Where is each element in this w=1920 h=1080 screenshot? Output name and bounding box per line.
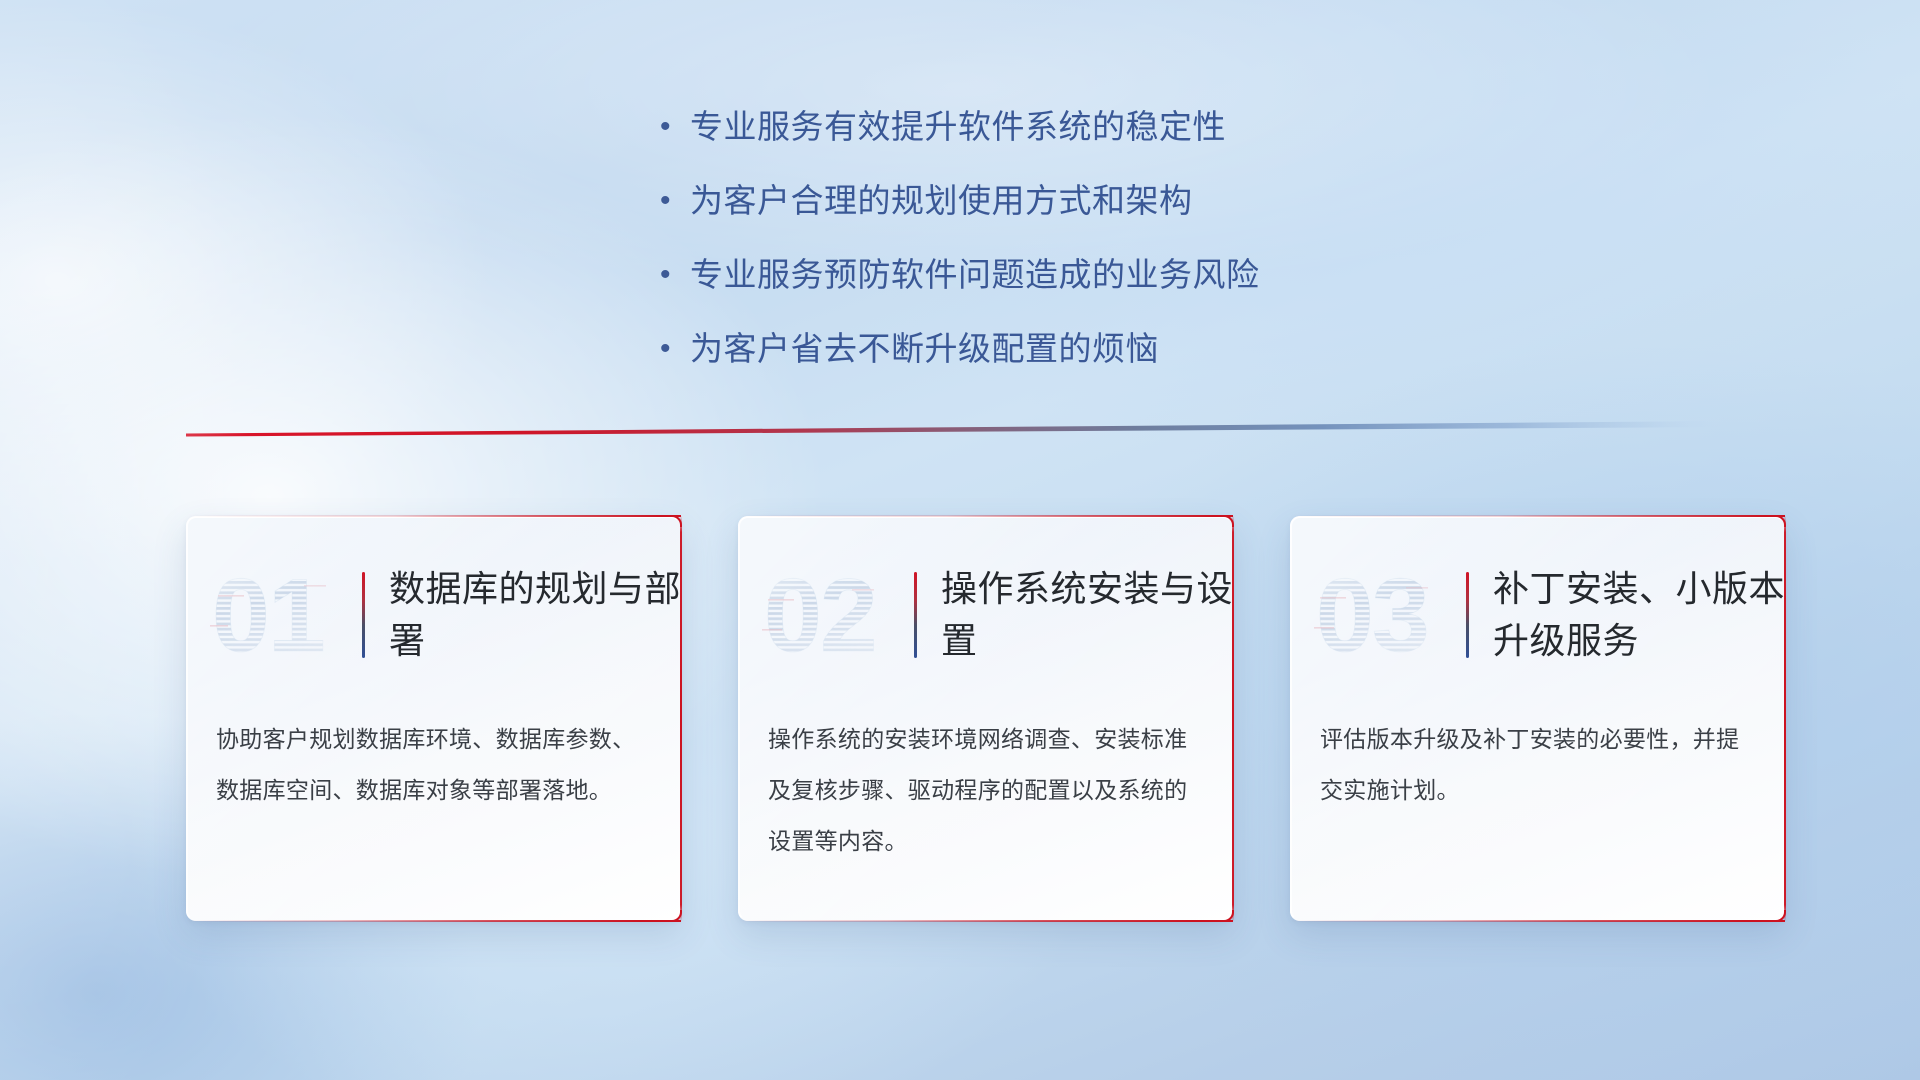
service-card[interactable]: 02 02 操作系统安装与设置 操作系统的安装环境网络调查、安装标准及复核步骤、… — [738, 516, 1233, 921]
bullet-text: 专业服务预防软件问题造成的业务风险 — [690, 253, 1260, 297]
benefits-bullet-list: • 专业服务有效提升软件系统的稳定性 • 为客户合理的规划使用方式和架构 • 专… — [660, 105, 1260, 401]
card-title: 补丁安装、小版本升级服务 — [1493, 563, 1785, 667]
tapered-line-icon — [186, 421, 1723, 439]
striped-number-icon: 03 03 — [1312, 555, 1462, 675]
card-title: 数据库的规划与部署 — [389, 563, 681, 667]
bullet-marker-icon: • — [660, 179, 690, 223]
card-header: 03 03 补丁安装、小版本升级服务 — [1290, 516, 1785, 714]
card-title: 操作系统安装与设置 — [941, 563, 1233, 667]
list-item: • 专业服务预防软件问题造成的业务风险 — [660, 253, 1260, 297]
svg-text:03: 03 — [1316, 558, 1428, 674]
bullet-text: 专业服务有效提升软件系统的稳定性 — [690, 105, 1226, 149]
list-item: • 为客户省去不断升级配置的烦恼 — [660, 327, 1260, 371]
card-header: 01 01 数据库的规划与部署 — [186, 516, 681, 714]
slide-canvas: • 专业服务有效提升软件系统的稳定性 • 为客户合理的规划使用方式和架构 • 专… — [0, 0, 1920, 1080]
card-number-watermark: 01 01 — [208, 555, 358, 675]
card-number-watermark: 02 02 — [760, 555, 910, 675]
bullet-marker-icon: • — [660, 327, 690, 371]
section-divider — [186, 421, 1723, 439]
list-item: • 为客户合理的规划使用方式和架构 — [660, 179, 1260, 223]
service-card[interactable]: 01 01 数据库的规划与部署 协助客户规划数据库环境、数据库参数、数据库空间、… — [186, 516, 681, 921]
svg-text:02: 02 — [764, 558, 876, 674]
card-title-rule — [914, 572, 917, 658]
list-item: • 专业服务有效提升软件系统的稳定性 — [660, 105, 1260, 149]
card-title-rule — [1466, 572, 1469, 658]
card-body-text: 操作系统的安装环境网络调查、安装标准及复核步骤、驱动程序的配置以及系统的设置等内… — [738, 714, 1233, 867]
bullet-marker-icon: • — [660, 253, 690, 297]
striped-number-icon: 02 02 — [760, 555, 910, 675]
svg-text:01: 01 — [212, 558, 324, 674]
bullet-text: 为客户合理的规划使用方式和架构 — [690, 179, 1193, 223]
striped-number-icon: 01 01 — [208, 555, 358, 675]
service-card-list: 01 01 数据库的规划与部署 协助客户规划数据库环境、数据库参数、数据库空间、… — [186, 516, 1786, 921]
service-card[interactable]: 03 03 补丁安装、小版本升级服务 评估版本升级及补丁安装的必要性，并提交实施… — [1290, 516, 1785, 921]
bullet-text: 为客户省去不断升级配置的烦恼 — [690, 327, 1159, 371]
bullet-marker-icon: • — [660, 105, 690, 149]
card-header: 02 02 操作系统安装与设置 — [738, 516, 1233, 714]
card-title-rule — [362, 572, 365, 658]
card-body-text: 协助客户规划数据库环境、数据库参数、数据库空间、数据库对象等部署落地。 — [186, 714, 681, 816]
card-body-text: 评估版本升级及补丁安装的必要性，并提交实施计划。 — [1290, 714, 1785, 816]
card-number-watermark: 03 03 — [1312, 555, 1462, 675]
